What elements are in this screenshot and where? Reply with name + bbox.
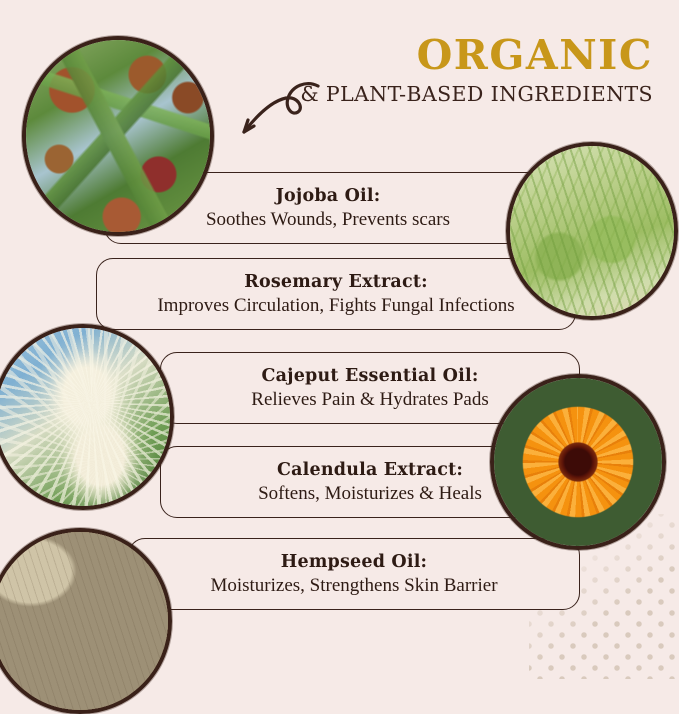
ingredient-description: Soothes Wounds, Prevents scars bbox=[206, 209, 450, 231]
ingredient-title: Cajeput Essential Oil: bbox=[262, 366, 479, 386]
photo-core bbox=[494, 378, 662, 546]
photo-detail bbox=[26, 40, 210, 232]
ingredient-title: Jojoba Oil: bbox=[276, 186, 381, 206]
ingredient-title: Hempseed Oil: bbox=[281, 552, 427, 572]
title-subtitle: & PLANT-BASED INGREDIENTS bbox=[300, 84, 653, 106]
page-title: ORGANIC & PLANT-BASED INGREDIENTS bbox=[300, 34, 653, 106]
ingredient-description: Relieves Pain & Hydrates Pads bbox=[251, 389, 488, 411]
curved-looping-arrow-icon bbox=[222, 76, 324, 150]
hempseed-photo bbox=[0, 528, 172, 714]
cajeput-flower-photo bbox=[0, 324, 174, 510]
ingredient-row-rosemary: Rosemary Extract: Improves Circulation, … bbox=[96, 258, 576, 330]
photo-detail bbox=[510, 146, 674, 316]
jojoba-plant-photo bbox=[22, 36, 214, 236]
ingredient-description: Moisturizes, Strengthens Skin Barrier bbox=[210, 575, 497, 597]
ingredient-title: Rosemary Extract: bbox=[244, 272, 428, 292]
photo-detail bbox=[0, 532, 168, 710]
rosemary-plant-photo bbox=[506, 142, 678, 320]
ingredient-description: Improves Circulation, Fights Fungal Infe… bbox=[157, 295, 514, 317]
photo-detail bbox=[0, 328, 170, 506]
calendula-flower-photo bbox=[490, 374, 666, 550]
ingredient-title: Calendula Extract: bbox=[277, 460, 463, 480]
ingredient-description: Softens, Moisturizes & Heals bbox=[258, 483, 482, 505]
ingredient-row-hempseed: Hempseed Oil: Moisturizes, Strengthens S… bbox=[128, 538, 580, 610]
title-organic: ORGANIC bbox=[300, 34, 653, 77]
